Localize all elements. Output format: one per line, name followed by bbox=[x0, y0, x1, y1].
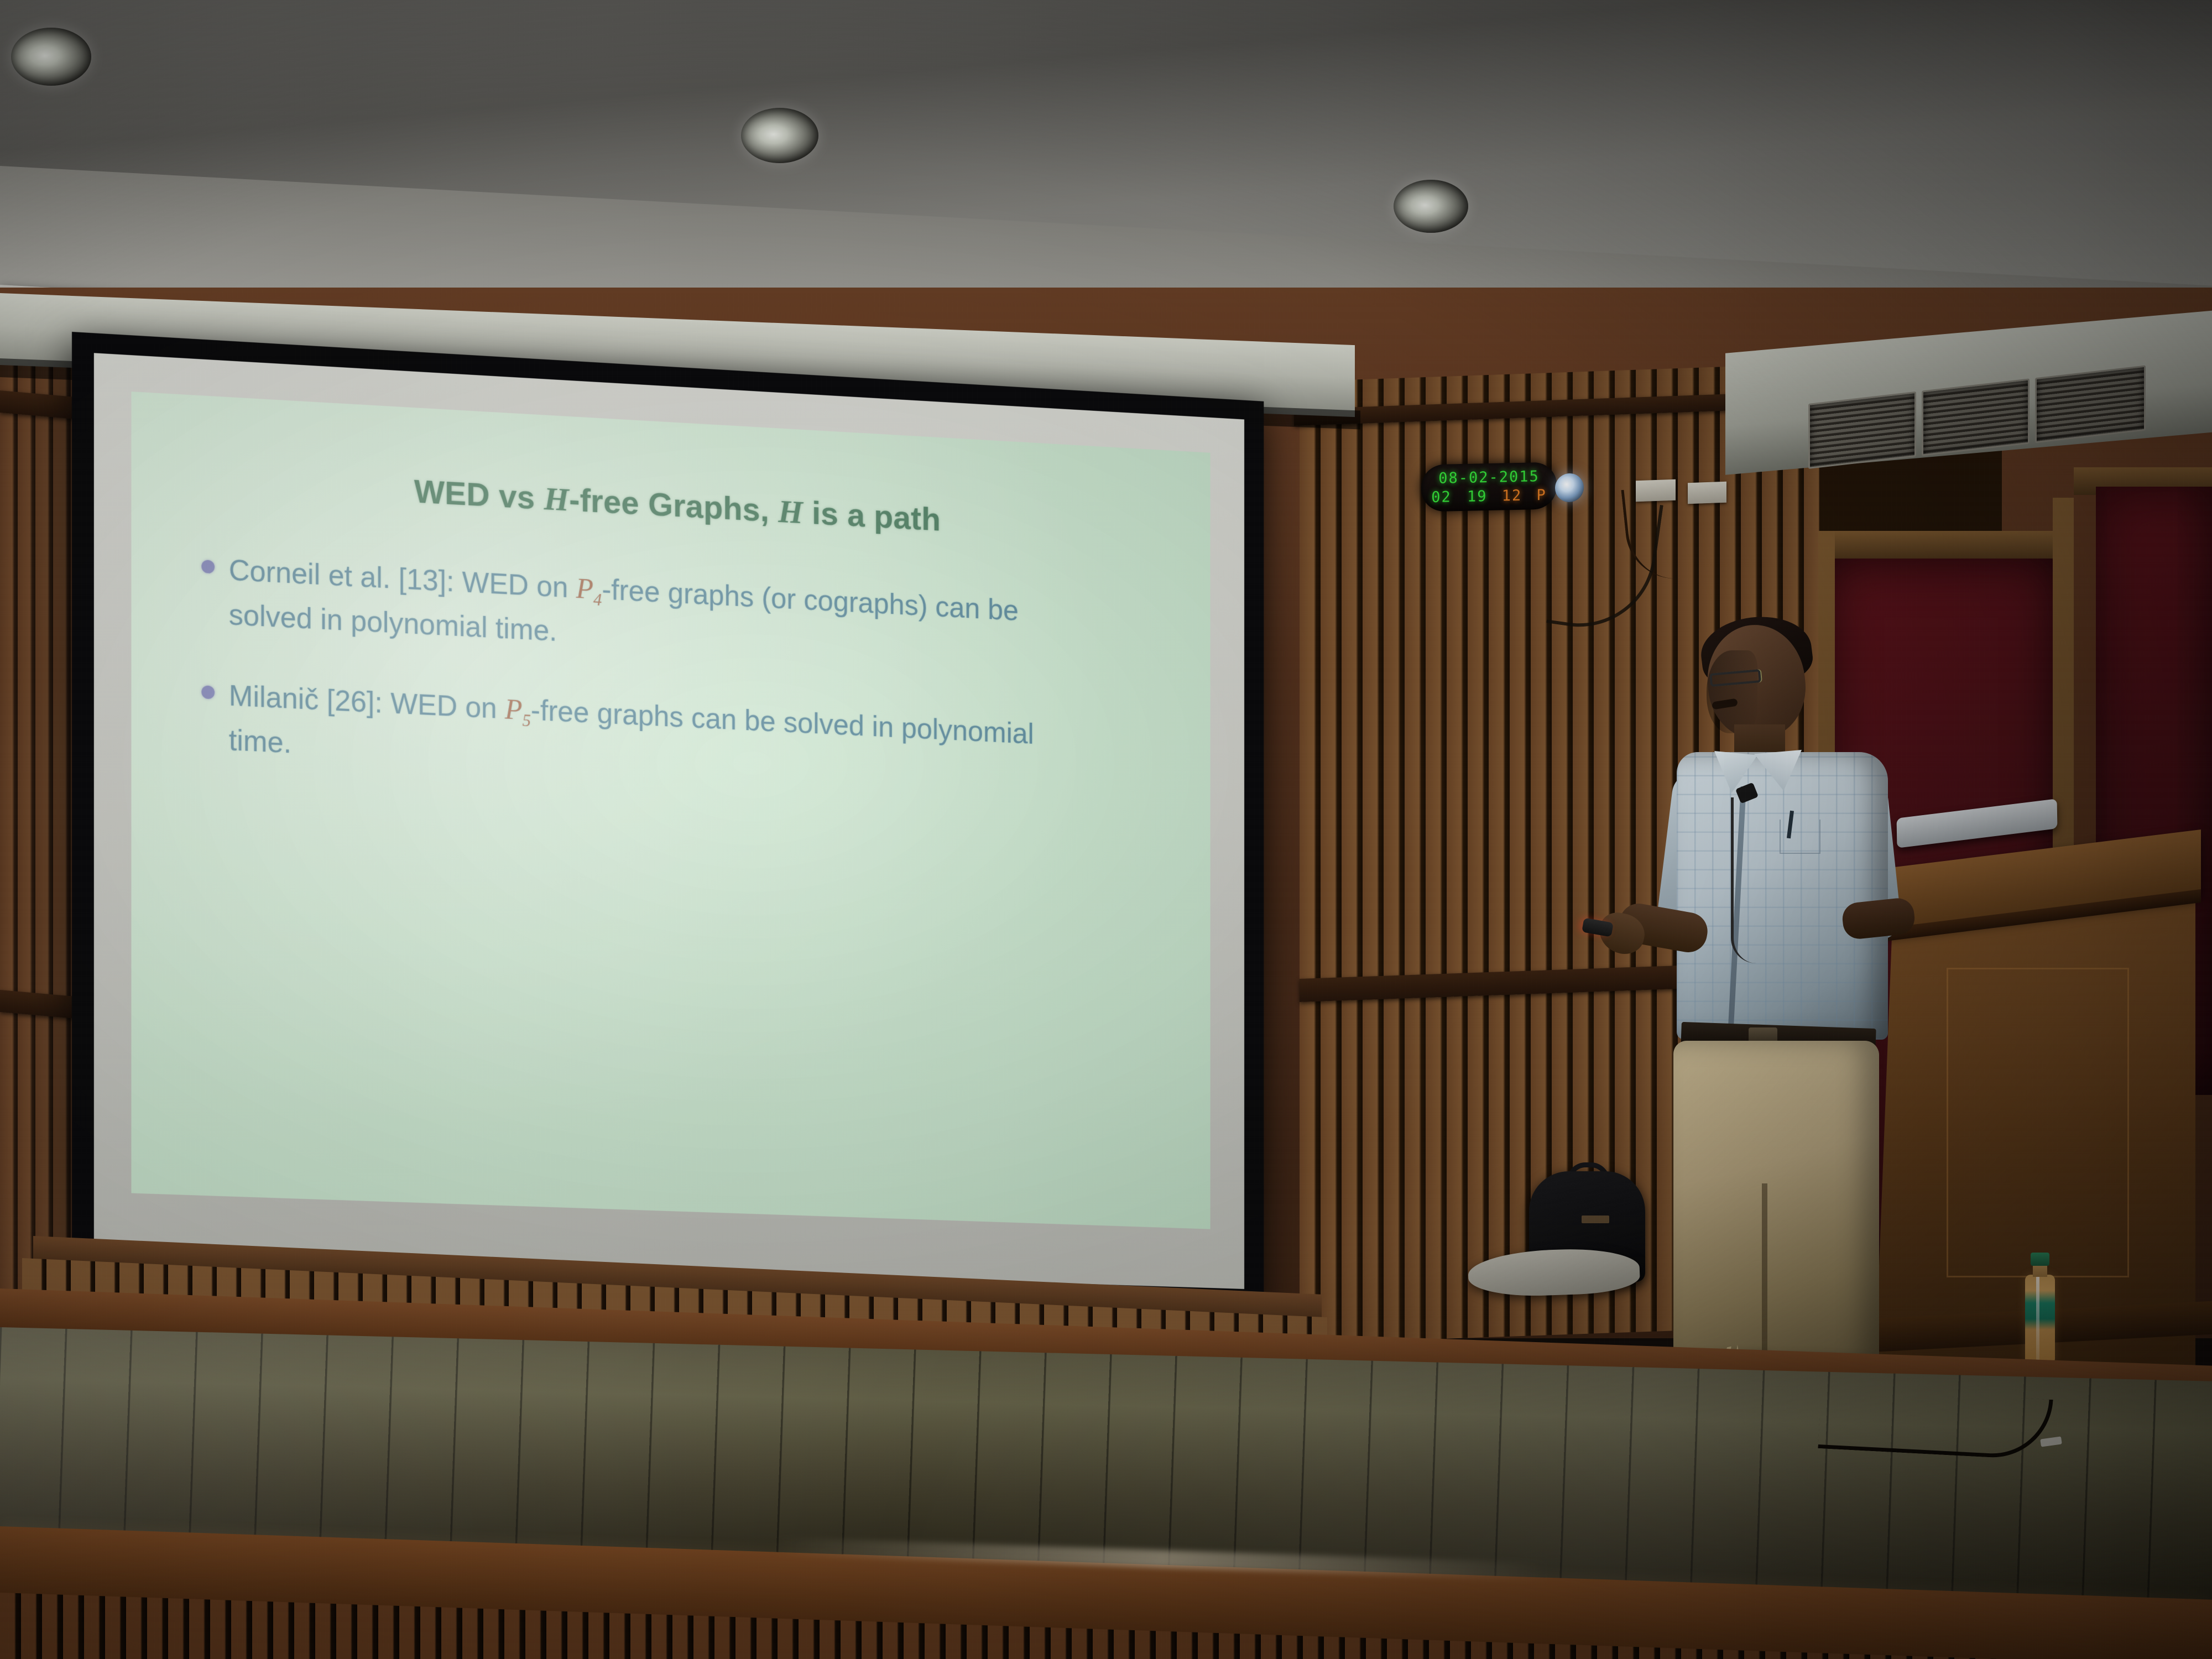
bullet-math-letter: P bbox=[505, 693, 522, 726]
slide-title-prefix: WED vs bbox=[414, 473, 544, 517]
ceiling-light-icon bbox=[1394, 180, 1468, 233]
switch-plate-2[interactable] bbox=[1688, 482, 1726, 504]
bullet-math-subscript: 5 bbox=[522, 711, 530, 730]
clock-hour: 02 bbox=[1431, 488, 1452, 506]
presenter-shirt bbox=[1677, 752, 1888, 1040]
bullet-lead: Corneil et al. [13]: WED on bbox=[229, 554, 576, 604]
bullet-text: Milanič [26]: WED on P5-free graphs can … bbox=[229, 675, 1081, 801]
floor-cable bbox=[1818, 1387, 2053, 1460]
bullet-text: Corneil et al. [13]: WED on P4-free grap… bbox=[229, 549, 1081, 679]
trouser-leg-seam bbox=[1762, 1183, 1767, 1377]
bottle-cap bbox=[2031, 1253, 2049, 1266]
screen-border: WED vs H-free Graphs, H is a path Cornei… bbox=[94, 353, 1244, 1289]
slide-bullet-list: Corneil et al. [13]: WED on P4-free grap… bbox=[192, 547, 1154, 805]
presenter-trousers bbox=[1673, 1041, 1879, 1373]
bottle-highlight bbox=[2036, 1277, 2039, 1360]
bullet-lead: Milanič [26]: WED on bbox=[229, 680, 505, 725]
clock-date: 08-02-2015 bbox=[1438, 469, 1540, 486]
bullet-math-letter: P bbox=[576, 573, 593, 606]
slide-bullet-item: Milanič [26]: WED on P5-free graphs can … bbox=[201, 674, 1154, 805]
slide-title: WED vs H-free Graphs, H is a path bbox=[192, 460, 1154, 550]
ac-vent-icon bbox=[1922, 378, 2030, 456]
slide-title-math-h1: H bbox=[544, 481, 569, 518]
door-frame bbox=[1819, 531, 2063, 561]
ceiling-light-icon bbox=[741, 108, 818, 163]
ac-vent-icon bbox=[1808, 392, 1916, 469]
clock-meridiem: P bbox=[1537, 487, 1547, 504]
presenter-face-shadow bbox=[1707, 650, 1757, 733]
projected-slide: WED vs H-free Graphs, H is a path Cornei… bbox=[131, 392, 1210, 1229]
bullet-math-subscript: 4 bbox=[593, 589, 602, 609]
digital-clock: 08-02-2015 02 19 12 P bbox=[1421, 462, 1557, 512]
microphone-wire bbox=[1731, 797, 1756, 963]
slide-title-middle: -free Graphs, bbox=[569, 481, 778, 529]
podium-front-panel bbox=[1947, 968, 2129, 1277]
slide-title-math-h2: H bbox=[778, 493, 803, 530]
shirt-pocket bbox=[1780, 820, 1820, 854]
bottle-neck bbox=[2033, 1265, 2047, 1277]
clock-time: 02 19 12 P bbox=[1431, 488, 1547, 505]
slide-title-suffix: is a path bbox=[803, 494, 941, 538]
clock-minute: 19 bbox=[1467, 488, 1488, 505]
presenter bbox=[1604, 625, 1891, 1399]
lecture-hall-scene: 08-02-2015 02 19 12 P WED vs H-free Grap… bbox=[0, 0, 2212, 1659]
ac-vent-icon bbox=[2035, 365, 2146, 443]
bullet-marker-icon bbox=[201, 560, 215, 573]
bullet-math-symbol: P4 bbox=[576, 573, 602, 606]
water-bottle[interactable] bbox=[2024, 1253, 2056, 1363]
clock-second: 12 bbox=[1502, 487, 1522, 505]
bullet-math-symbol: P5 bbox=[505, 693, 531, 726]
slide-bullet-item: Corneil et al. [13]: WED on P4-free grap… bbox=[201, 547, 1154, 682]
projector-screen: WED vs H-free Graphs, H is a path Cornei… bbox=[72, 332, 1264, 1309]
ceiling-light-icon bbox=[11, 28, 91, 86]
bullet-marker-icon bbox=[201, 686, 215, 700]
bottle-body bbox=[2025, 1275, 2055, 1363]
